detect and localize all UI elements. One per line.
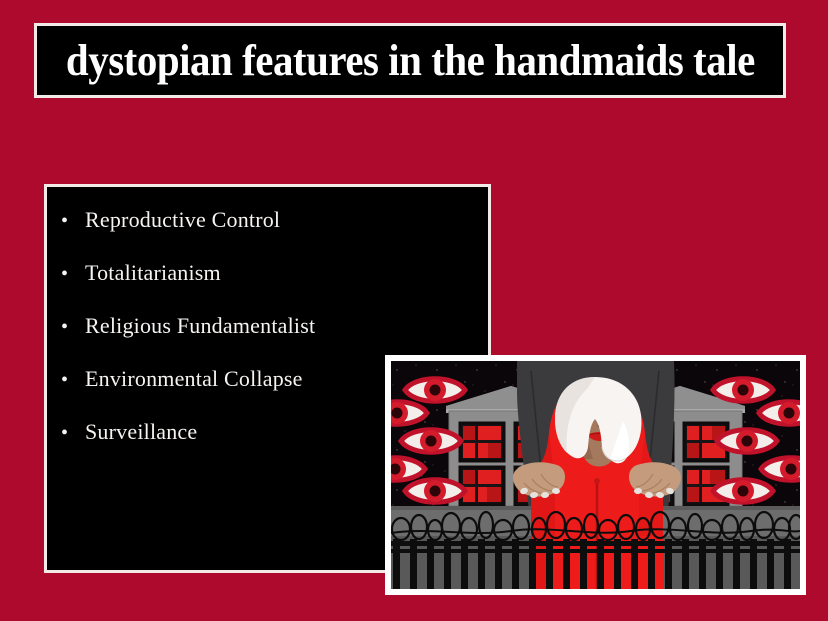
eye-icon — [713, 379, 773, 402]
bullet-label: Environmental Collapse — [85, 366, 303, 392]
illustration-image — [391, 361, 800, 589]
eye-icon — [405, 379, 465, 402]
eye-icon — [759, 402, 800, 425]
bullet-dot-icon: • — [61, 264, 85, 284]
bullet-dot-icon: • — [61, 423, 85, 443]
title-box: dystopian features in the handmaids tale — [34, 23, 786, 98]
illustration-card — [385, 355, 806, 595]
eye-icon — [391, 402, 427, 425]
bullet-label: Reproductive Control — [85, 207, 280, 233]
eye-icon — [401, 430, 461, 453]
eye-icon — [405, 480, 465, 503]
title-box-inner: dystopian features in the handmaids tale — [39, 28, 781, 93]
bullet-dot-icon: • — [61, 370, 85, 390]
bullet-label: Surveillance — [85, 419, 197, 445]
slide-canvas: dystopian features in the handmaids tale… — [0, 0, 828, 621]
list-item: • Reproductive Control — [61, 207, 488, 260]
handmaids-tale-illustration-svg — [391, 361, 800, 589]
eye-icon — [391, 458, 425, 481]
list-item: • Totalitarianism — [61, 260, 488, 313]
eye-icon — [761, 458, 800, 481]
bullet-dot-icon: • — [61, 211, 85, 231]
eye-icon — [717, 430, 777, 453]
eye-icon — [713, 480, 773, 503]
bullet-dot-icon: • — [61, 317, 85, 337]
page-title: dystopian features in the handmaids tale — [66, 39, 755, 83]
bullet-label: Totalitarianism — [85, 260, 221, 286]
bullet-label: Religious Fundamentalist — [85, 313, 315, 339]
